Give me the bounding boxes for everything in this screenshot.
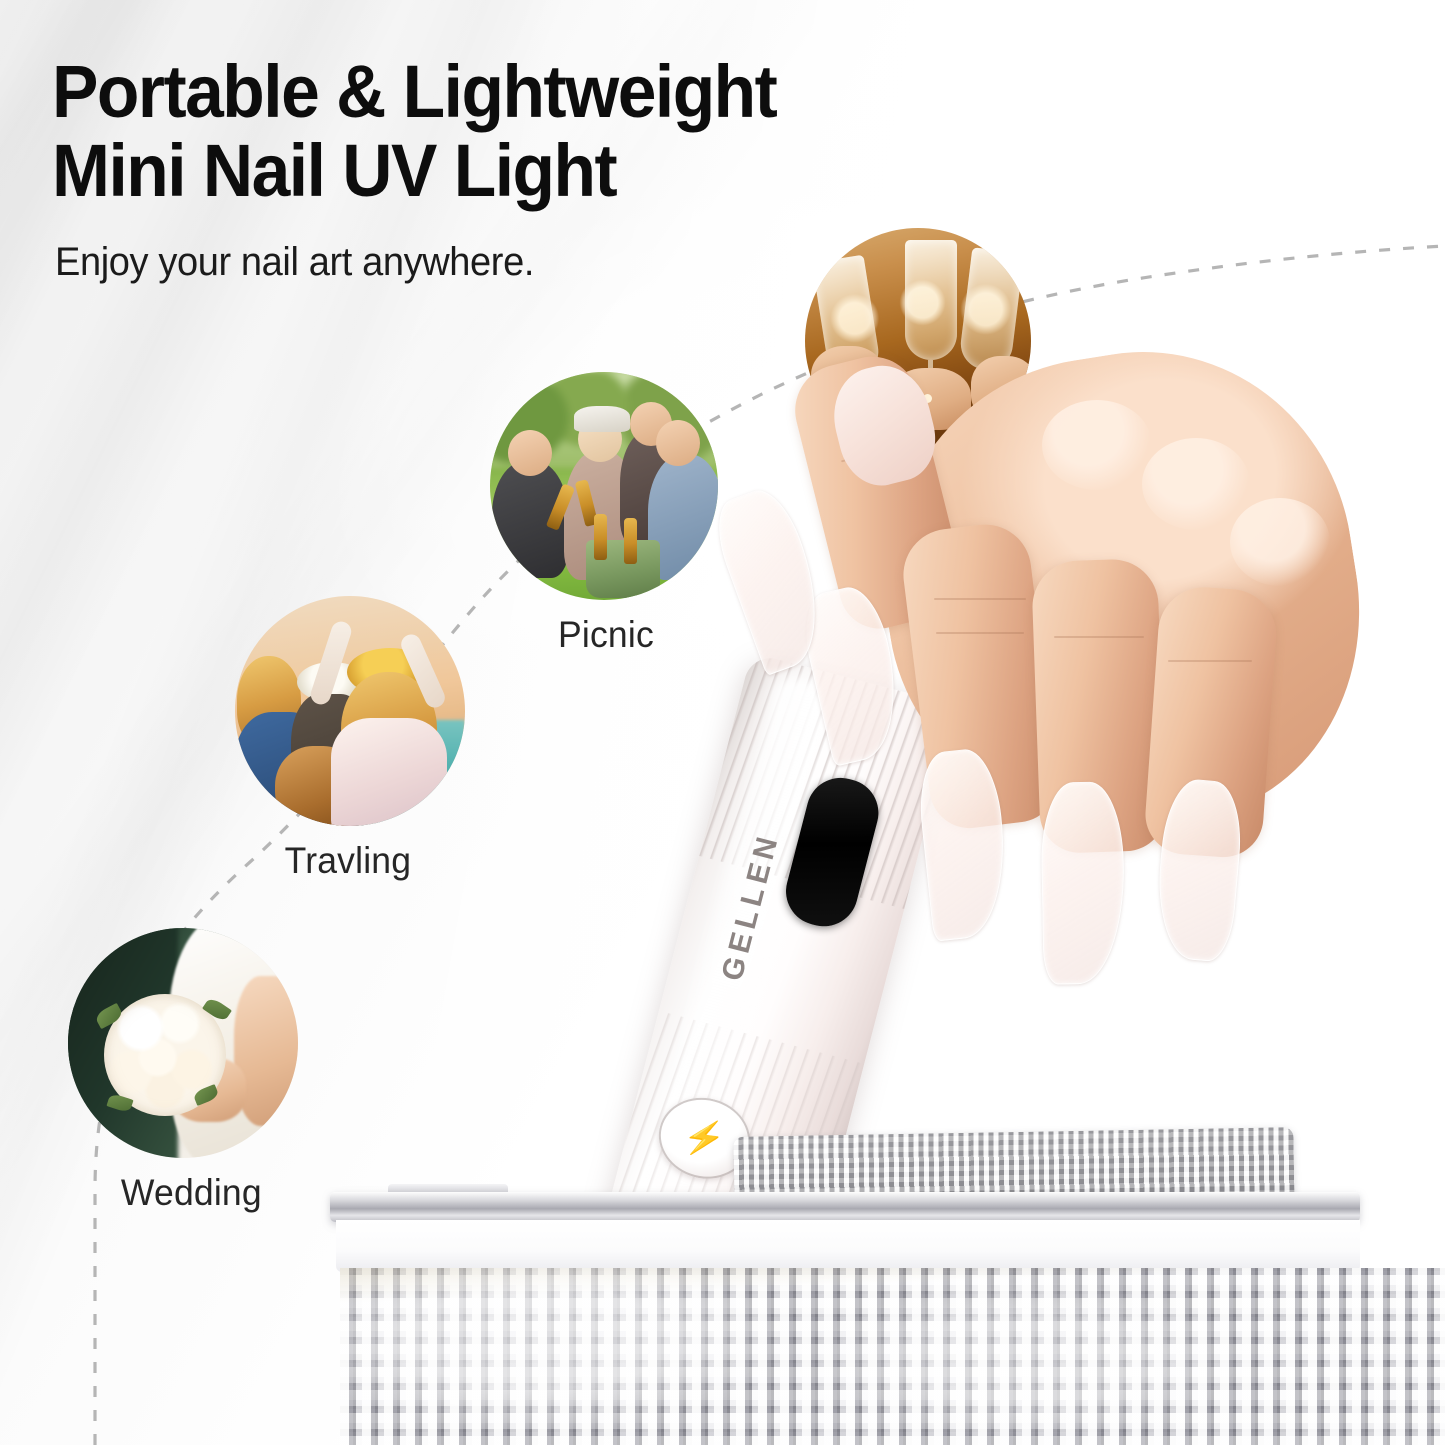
rhinestone-clutch-bag [330,1150,1445,1445]
long-clear-nail-3 [1040,781,1126,984]
travling-photo [235,596,465,826]
scenario-circle-travling [235,596,465,826]
bag-upper-panel [336,1220,1360,1272]
scenario-circle-picnic [490,372,718,600]
picnic-photo [490,372,718,600]
wedding-photo [68,928,298,1158]
hand-holding-pen [690,330,1445,1130]
scenario-label-picnic: Picnic [558,614,654,656]
product-marketing-image: Portable & Lightweight Mini Nail UV Ligh… [0,0,1445,1445]
bag-metal-frame [330,1192,1360,1222]
page-subheadline: Enjoy your nail art anywhere. [55,240,534,285]
bag-gloss-overlay [340,1268,1445,1445]
scenario-circle-wedding [68,928,298,1158]
scenario-label-wedding: Wedding [121,1172,262,1214]
scenario-label-travling: Travling [285,840,412,882]
page-headline: Portable & Lightweight Mini Nail UV Ligh… [52,52,1001,210]
